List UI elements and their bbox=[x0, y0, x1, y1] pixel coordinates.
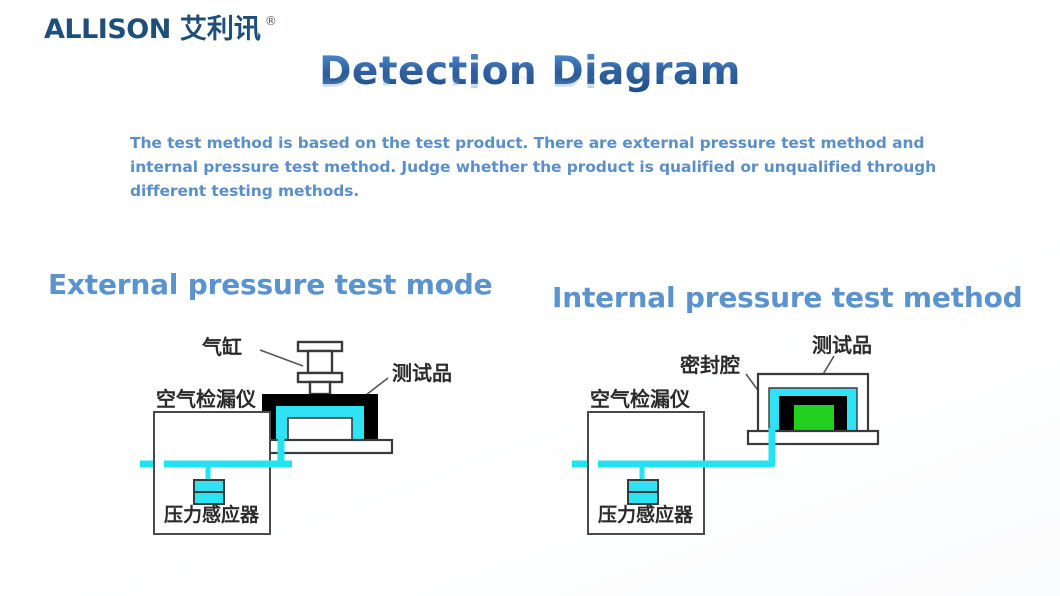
label-test-product: 测试品 bbox=[812, 333, 872, 357]
leak-detector-external: 空气检漏仪 压力感应器 bbox=[152, 388, 382, 545]
page-title-reflection: Detection Diagram bbox=[319, 68, 741, 90]
label-leak-detector: 空气检漏仪 bbox=[156, 388, 257, 411]
section-heading-internal: Internal pressure test method bbox=[552, 281, 1023, 314]
cylinder-top-cap bbox=[298, 342, 342, 351]
brand-name-en: ALLISON bbox=[44, 16, 171, 43]
label-sealed-chamber: 密封腔 bbox=[680, 353, 740, 377]
label-pressure-sensor: 压力感应器 bbox=[598, 503, 694, 526]
section-heading-external: External pressure test mode bbox=[48, 268, 492, 301]
registered-trademark-icon: ® bbox=[265, 14, 277, 28]
leak-detector-internal: 空气检漏仪 压力感应器 bbox=[586, 388, 816, 545]
leader-line-cylinder bbox=[260, 350, 303, 366]
leak-detector-external-svg: 空气检漏仪 压力感应器 bbox=[152, 388, 382, 540]
label-cylinder: 气缸 bbox=[201, 335, 242, 359]
intro-paragraph: The test method is based on the test pro… bbox=[130, 131, 970, 203]
label-pressure-sensor: 压力感应器 bbox=[164, 503, 260, 526]
label-leak-detector: 空气检漏仪 bbox=[590, 388, 691, 411]
brand-name-cn: 艾利讯 bbox=[180, 16, 261, 43]
page-title-block: Detection Diagram Detection Diagram bbox=[0, 52, 1060, 117]
label-test-product: 测试品 bbox=[392, 361, 452, 385]
slide-canvas: ALLISON 艾利讯 ® Detection Diagram Detectio… bbox=[0, 0, 1060, 596]
cylinder-lower-flange bbox=[298, 373, 342, 382]
leak-detector-internal-svg: 空气检漏仪 压力感应器 bbox=[586, 388, 816, 540]
cylinder-body bbox=[308, 351, 332, 373]
brand-logo: ALLISON 艾利讯 ® bbox=[44, 16, 277, 43]
